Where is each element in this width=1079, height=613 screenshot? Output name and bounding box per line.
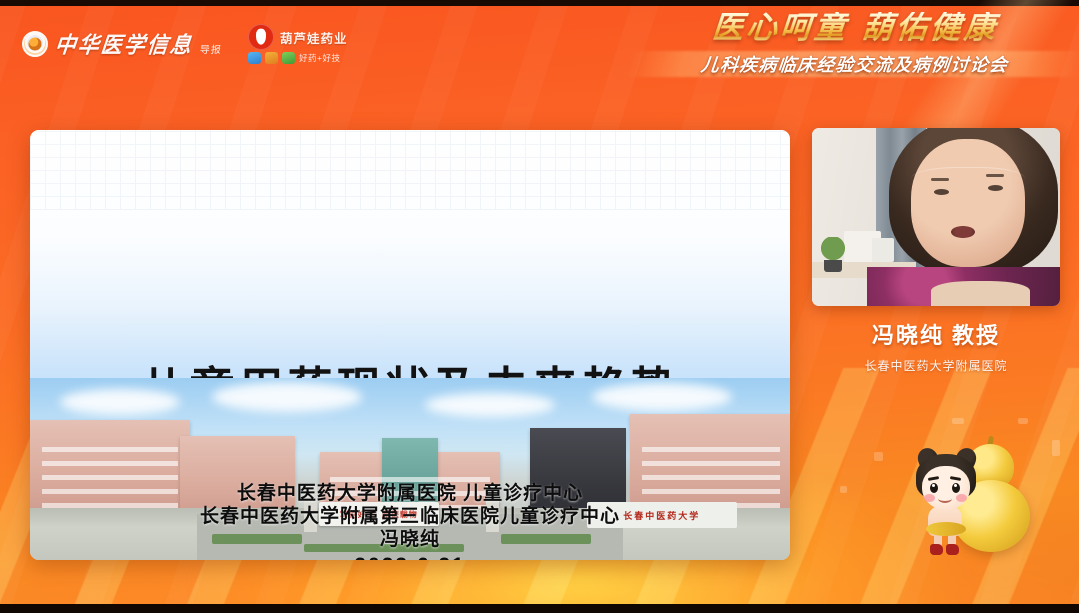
sparkle-icon [840,486,847,493]
logo-huluwa-secondary: 好药+好技 [248,52,348,64]
presentation-slide[interactable]: 儿童用药现状及未来趋势 [30,130,790,560]
logo-cmda[interactable]: 中华医学信息 导报 [22,29,222,59]
slide-subtitle-line-1: 长春中医药大学附属医院 儿童诊疗中心 [30,482,790,505]
logo-huluwa-name: 葫芦娃药业 [280,28,348,47]
top-letterbox-bar [0,0,1079,6]
logo-huluwa[interactable]: 葫芦娃药业 好药+好技 [248,24,348,64]
logo-huluwa-primary: 葫芦娃药业 [248,24,348,50]
speaker-face [911,139,1025,267]
mascot-cheek-left [924,494,935,502]
speaker-neckline [931,281,1030,306]
campaign-title: 医心呵童 葫佑健康 [644,12,1067,45]
video-plant-pot [824,260,841,272]
sparkle-icon [952,418,964,424]
speaker-name: 冯晓纯 教授 [812,318,1060,350]
speaker-mouth [951,226,975,238]
mascot-boot-right [946,544,959,555]
campaign-title-block: 医心呵童 葫佑健康 儿科疾病临床经验交流及病例讨论会 [645,12,1065,79]
slide-subtitle-line-2: 长春中医药大学附属第三临床医院儿童诊疗中心 [30,505,790,528]
speaker-organization: 长春中医药大学附属医院 [812,357,1060,374]
speaker-video-feed[interactable] [812,128,1060,306]
slide-subtitle-line-4: 2023.6.21 [30,553,790,560]
chip-green-icon [282,52,295,64]
campaign-subtitle-stripe: 儿科疾病临床经验交流及病例讨论会 [645,49,1065,79]
broadcast-stage: 中华医学信息 导报 葫芦娃药业 好药+好技 医心呵童 葫佑健康 儿科疾病临床经验… [0,0,1079,613]
mascot-eye-right [952,483,960,493]
logo-huluwa-tagline: 好药+好技 [299,52,340,64]
chip-orange-icon [265,52,278,64]
sponsor-logo-row: 中华医学信息 导报 葫芦娃药业 好药+好技 [22,24,348,64]
sparkle-icon [1018,418,1028,424]
huluwa-gourd-badge-icon [248,24,274,50]
speaker-caption: 冯晓纯 教授 长春中医药大学附属医院 [812,318,1060,374]
mascot-leaf-skirt [926,522,966,536]
sparkle-icon [874,452,883,461]
slide-subtitle-block: 长春中医药大学附属医院 儿童诊疗中心 长春中医药大学附属第三临床医院儿童诊疗中心… [30,482,790,560]
mascot-smile [938,494,952,503]
speaker-glasses [911,167,1025,196]
slide-grid-texture [30,130,790,210]
chip-blue-icon [248,52,261,64]
logo-cmda-name: 中华医学信息 [53,28,194,60]
huluwa-calabash-boy-mascot [908,430,1058,580]
mascot-boot-left [930,544,943,555]
mascot-eye-left [930,483,938,493]
medical-association-seal-icon [22,31,48,57]
campaign-subtitle: 儿科疾病临床经验交流及病例讨论会 [700,51,1010,77]
video-box-object-2 [872,238,894,261]
logo-cmda-suffix: 导报 [199,41,223,56]
bottom-letterbox-bar [0,604,1079,613]
slide-subtitle-line-3: 冯晓纯 [30,528,790,551]
mascot-cheek-right [956,494,967,502]
